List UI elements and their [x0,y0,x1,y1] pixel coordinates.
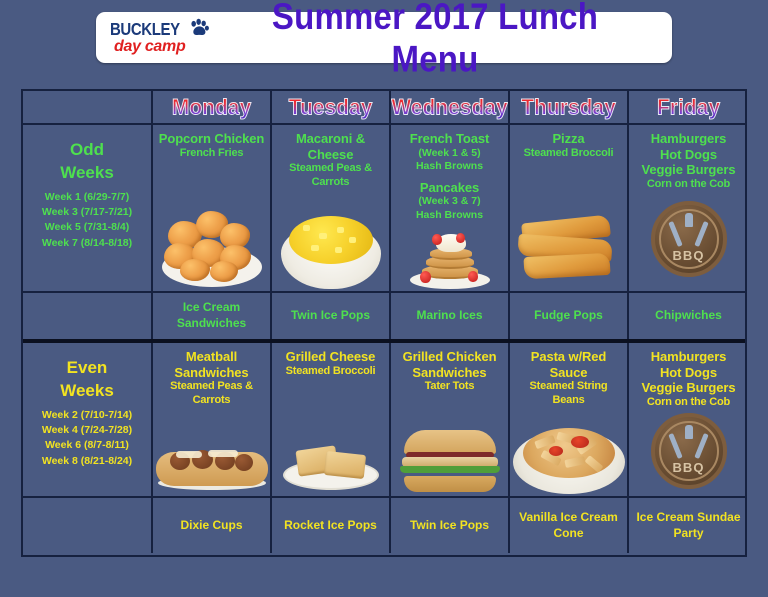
week-date-item: Week 3 (7/17-7/21) [26,205,148,220]
day-header-label: Thursday [521,96,616,118]
meal-title: Meatball Sandwiches [156,349,267,380]
meatball-sandwich-image [156,428,268,490]
dessert-label: Rocket Ice Pops [284,518,377,534]
meal-cell-even-wednesday: Grilled Chicken Sandwiches Tater Tots [391,343,510,496]
meal-title-3: Veggie Burgers [632,380,745,396]
bbq-badge-text: BBQ [651,460,727,475]
bbq-badge-text: BBQ [651,248,727,263]
dessert-cell-odd-monday: Ice Cream Sandwiches [153,293,272,339]
dessert-cell-even-friday: Ice Cream Sundae Party [629,498,748,553]
dessert-label: Marino Ices [416,308,482,324]
even-weeks-label-cell: Even Weeks Week 2 (7/10-7/14) Week 4 (7/… [23,343,153,496]
dessert-cell-even-thursday: Vanilla Ice Cream Cone [510,498,629,553]
meal-title: Popcorn Chicken [156,131,267,147]
meal-cell-even-monday: Meatball Sandwiches Steamed Peas & Carro… [153,343,272,496]
buckley-day-camp-logo: BUCKLEY day camp [106,16,224,60]
dessert-label: Twin Ice Pops [291,308,370,324]
odd-weeks-date-list: Week 1 (6/29-7/7) Week 3 (7/17-7/21) Wee… [26,190,148,251]
meal-cell-odd-thursday: Pizza Steamed Broccoli [510,125,629,291]
meal-side: Corn on the Cob [632,396,745,410]
dessert-cell-odd-thursday: Fudge Pops [510,293,629,339]
pancakes-image [410,227,490,289]
odd-weeks-title-line2: Weeks [26,162,148,185]
meal-title: Hamburgers [632,131,745,147]
dessert-row-spacer [23,293,153,339]
meal-week-note: (Week 1 & 5) [394,147,505,160]
table-header-row: Monday Tuesday Wednesday Thursday Friday [23,91,745,125]
dessert-cell-odd-friday: Chipwiches [629,293,748,339]
week-date-item: Week 7 (8/14-8/18) [26,236,148,251]
dessert-cell-even-monday: Dixie Cups [153,498,272,553]
logo-day-camp-text: day camp [114,38,185,56]
meal-side: Steamed Broccoli [275,365,386,379]
popcorn-chicken-image [158,203,266,289]
odd-weeks-dessert-row: Ice Cream Sandwiches Twin Ice Pops Marin… [23,293,745,339]
dessert-row-spacer [23,498,153,553]
macaroni-cheese-image [279,209,383,289]
dessert-label: Fudge Pops [534,308,603,324]
dessert-cell-odd-wednesday: Marino Ices [391,293,510,339]
dessert-label: Chipwiches [655,308,722,324]
pizza-image [514,215,624,287]
week-date-item: Week 8 (8/21-8/24) [26,454,148,469]
day-header-thursday: Thursday [510,91,629,123]
meal-cell-even-thursday: Pasta w/Red Sauce Steamed String Beans [510,343,629,496]
meal-title: Pizza [513,131,624,147]
header-corner-cell [23,91,153,123]
day-header-label: Friday [657,96,720,118]
paw-print-icon [188,17,210,39]
grilled-cheese-image [283,432,379,490]
meal-side: French Fries [156,147,267,161]
week-date-item: Week 4 (7/24-7/28) [26,423,148,438]
meal-cell-odd-tuesday: Macaroni & Cheese Steamed Peas & Carrots [272,125,391,291]
day-header-wednesday: Wednesday [391,91,510,123]
day-header-label: Tuesday [289,96,373,118]
header-banner: BUCKLEY day camp Summer 2017 Lunch Menu [96,12,672,63]
even-weeks-title-line2: Weeks [26,380,148,403]
bbq-badge-image: BBQ [651,201,727,277]
meal-title: Hamburgers [632,349,745,365]
meal-side: Tater Tots [394,380,505,394]
chicken-sandwich-image [398,430,502,492]
lunch-menu-table: Monday Tuesday Wednesday Thursday Friday… [21,89,747,557]
dessert-label: Vanilla Ice Cream Cone [510,510,627,541]
dessert-label: Ice Cream Sandwiches [153,300,270,331]
dessert-cell-even-wednesday: Twin Ice Pops [391,498,510,553]
day-header-label: Monday [172,96,251,118]
meal-cell-odd-monday: Popcorn Chicken French Fries [153,125,272,291]
day-header-monday: Monday [153,91,272,123]
meal-title: French Toast [394,131,505,147]
meal-title-alt: Pancakes [394,180,505,196]
week-date-item: Week 1 (6/29-7/7) [26,190,148,205]
even-weeks-title-line1: Even [26,357,148,380]
odd-weeks-title-line1: Odd [26,139,148,162]
day-header-tuesday: Tuesday [272,91,391,123]
day-header-friday: Friday [629,91,748,123]
bbq-badge-image: BBQ [651,413,727,489]
meal-side: Steamed Peas & Carrots [275,162,386,190]
meal-title-3: Veggie Burgers [632,162,745,178]
meal-week-note-alt: (Week 3 & 7) [394,195,505,208]
meal-side: Steamed Peas & Carrots [156,380,267,408]
page-title: Summer 2017 Lunch Menu [224,0,672,80]
meal-title-2: Hot Dogs [632,365,745,381]
dessert-cell-even-tuesday: Rocket Ice Pops [272,498,391,553]
even-weeks-date-list: Week 2 (7/10-7/14) Week 4 (7/24-7/28) We… [26,408,148,469]
dessert-cell-odd-tuesday: Twin Ice Pops [272,293,391,339]
odd-weeks-label-cell: Odd Weeks Week 1 (6/29-7/7) Week 3 (7/17… [23,125,153,291]
meal-title: Grilled Cheese [275,349,386,365]
day-header-label: Wednesday [391,96,507,118]
pasta-image [513,420,625,494]
meal-side: Corn on the Cob [632,178,745,192]
meal-side: Hash Browns [394,160,505,173]
meal-title: Grilled Chicken Sandwiches [394,349,505,380]
menu-page: BUCKLEY day camp Summer 2017 Lunch Menu … [0,0,768,597]
meal-side: Steamed String Beans [513,380,624,408]
meal-title: Pasta w/Red Sauce [513,349,624,380]
meal-side-alt: Hash Browns [394,209,505,222]
logo-buckley-text: BUCKLEY [110,20,180,40]
dessert-label: Ice Cream Sundae Party [629,510,748,541]
week-date-item: Week 6 (8/7-8/11) [26,438,148,453]
meal-cell-odd-friday: Hamburgers Hot Dogs Veggie Burgers Corn … [629,125,748,291]
week-date-item: Week 2 (7/10-7/14) [26,408,148,423]
week-date-item: Week 5 (7/31-8/4) [26,220,148,235]
meal-title: Macaroni & Cheese [275,131,386,162]
dessert-label: Twin Ice Pops [410,518,489,534]
meal-title-2: Hot Dogs [632,147,745,163]
meal-cell-odd-wednesday: French Toast (Week 1 & 5) Hash Browns Pa… [391,125,510,291]
even-weeks-meal-row: Even Weeks Week 2 (7/10-7/14) Week 4 (7/… [23,343,745,498]
even-weeks-dessert-row: Dixie Cups Rocket Ice Pops Twin Ice Pops… [23,498,745,553]
meal-cell-even-tuesday: Grilled Cheese Steamed Broccoli [272,343,391,496]
meal-cell-even-friday: Hamburgers Hot Dogs Veggie Burgers Corn … [629,343,748,496]
dessert-label: Dixie Cups [180,518,242,534]
meal-side: Steamed Broccoli [513,147,624,161]
odd-weeks-meal-row: Odd Weeks Week 1 (6/29-7/7) Week 3 (7/17… [23,125,745,293]
